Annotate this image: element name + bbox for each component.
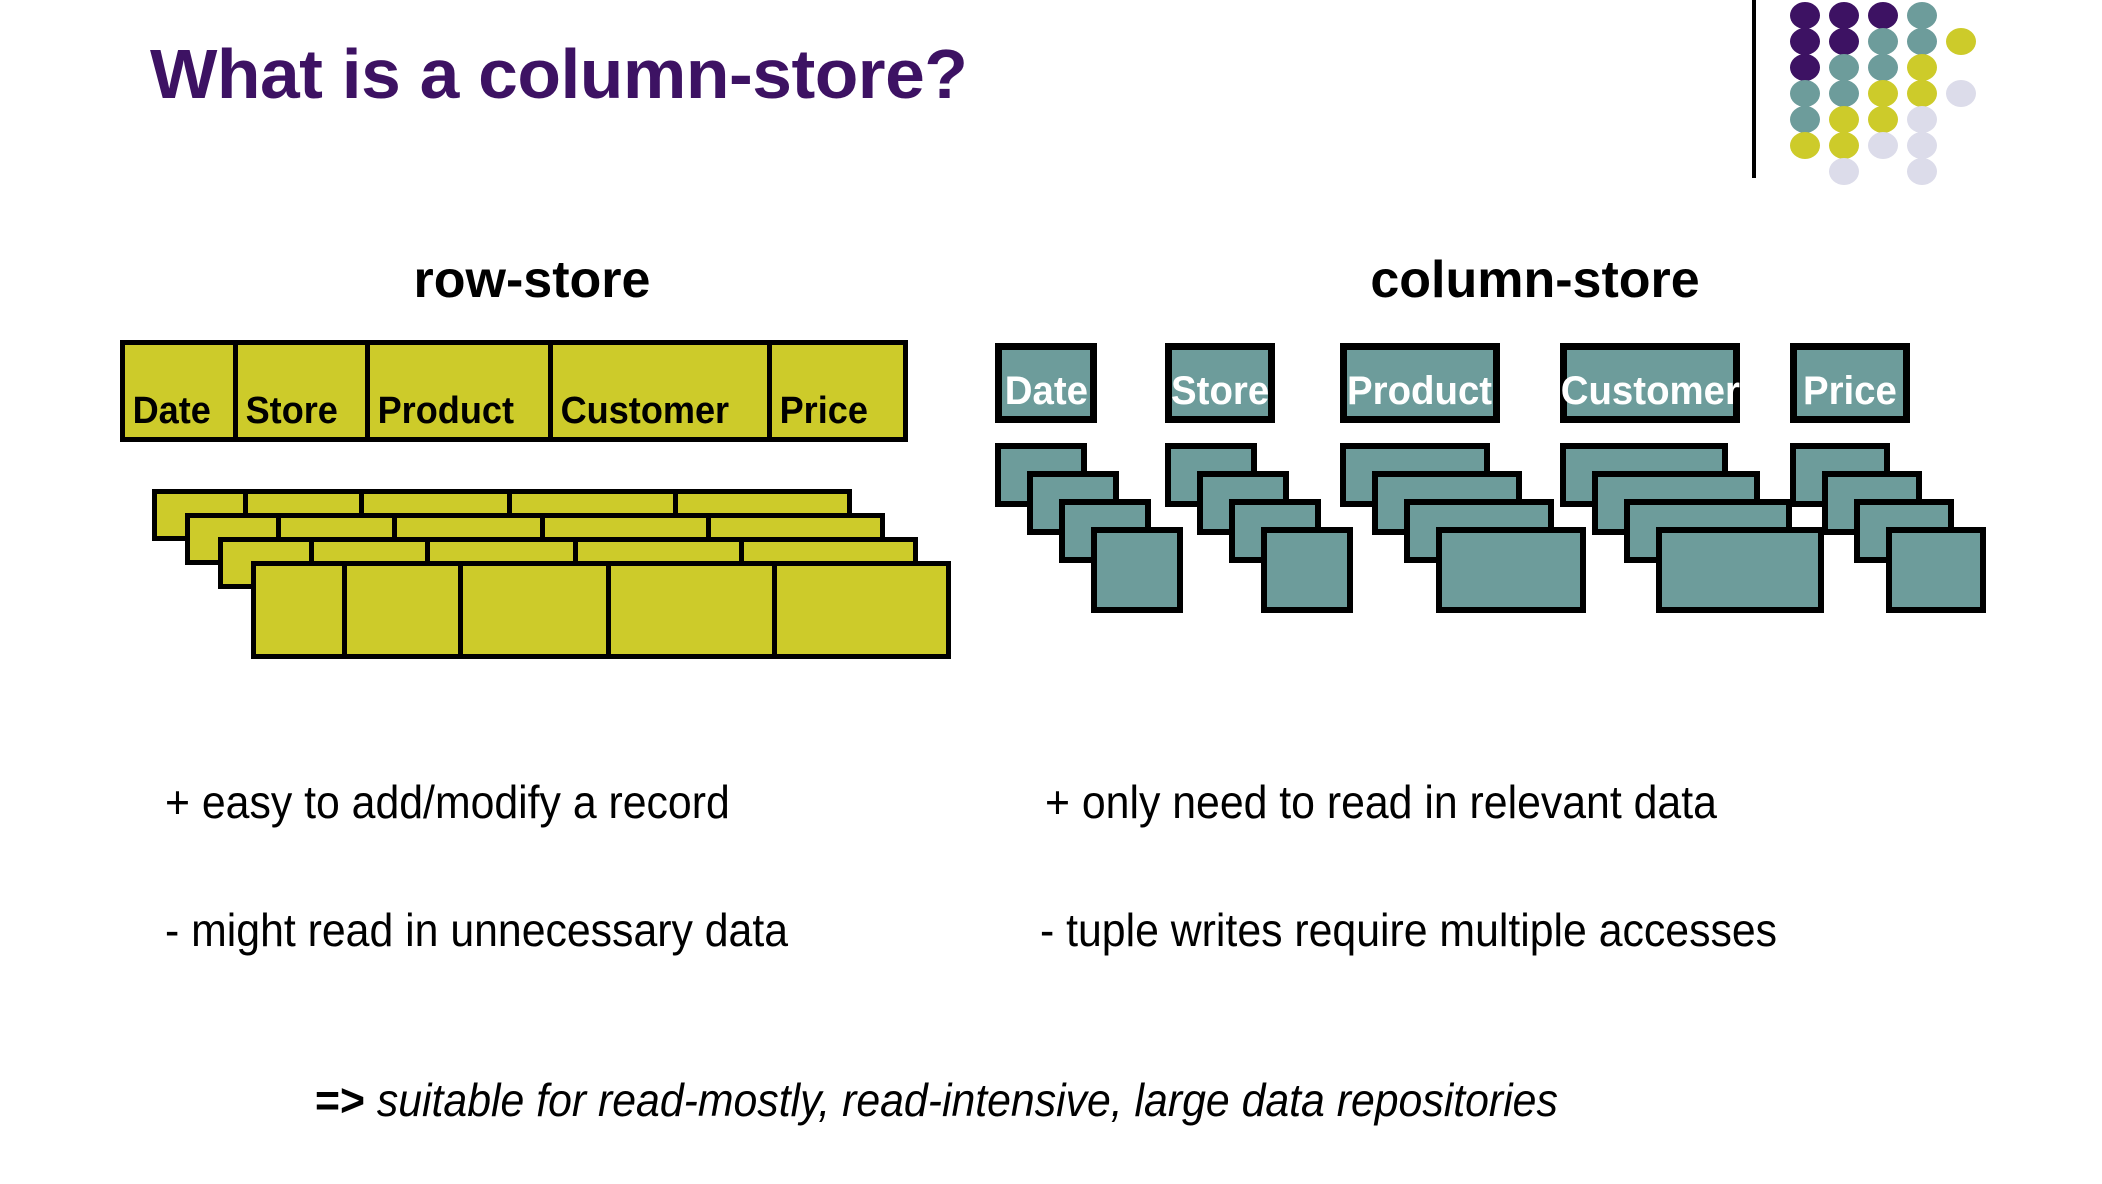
colstore-header-label: Date <box>1004 369 1087 416</box>
colstore-header-label: Price <box>1803 369 1897 416</box>
conclusion-text: suitable for read-mostly, read-intensive… <box>377 1074 1558 1126</box>
rowstore-record-cell <box>347 566 463 654</box>
conclusion-arrow: => <box>315 1074 377 1126</box>
colstore-value-block <box>1886 527 1986 613</box>
slide-canvas: What is a column-store? row-store column… <box>0 0 2102 1184</box>
colstore-value-block <box>1261 527 1353 613</box>
rowstore-record-cell <box>611 566 778 654</box>
colstore-con-bullet: - tuple writes require multiple accesses <box>1040 903 1777 957</box>
colstore-header-block: Price <box>1790 343 1910 423</box>
colstore-header-block: Customer <box>1560 343 1740 423</box>
rowstore-con-bullet: - might read in unnecessary data <box>165 903 788 957</box>
rowstore-record-cell <box>256 566 347 654</box>
colstore-value-block <box>1091 527 1183 613</box>
colstore-value-block <box>1656 527 1824 613</box>
rowstore-record-row <box>251 561 951 659</box>
colstore-header-label: Store <box>1171 369 1269 416</box>
colstore-header-block: Store <box>1165 343 1275 423</box>
rowstore-pro-bullet: + easy to add/modify a record <box>165 775 730 829</box>
colstore-header-block: Product <box>1340 343 1500 423</box>
colstore-header-block: Date <box>995 343 1097 423</box>
colstore-header-label: Customer <box>1560 369 1739 416</box>
colstore-header-label: Product <box>1347 369 1492 416</box>
colstore-pro-bullet: + only need to read in relevant data <box>1045 775 1717 829</box>
rowstore-record-cell <box>777 566 946 654</box>
colstore-value-block <box>1436 527 1586 613</box>
conclusion-line: => suitable for read-mostly, read-intens… <box>315 1073 1558 1127</box>
rowstore-record-cell <box>463 566 611 654</box>
